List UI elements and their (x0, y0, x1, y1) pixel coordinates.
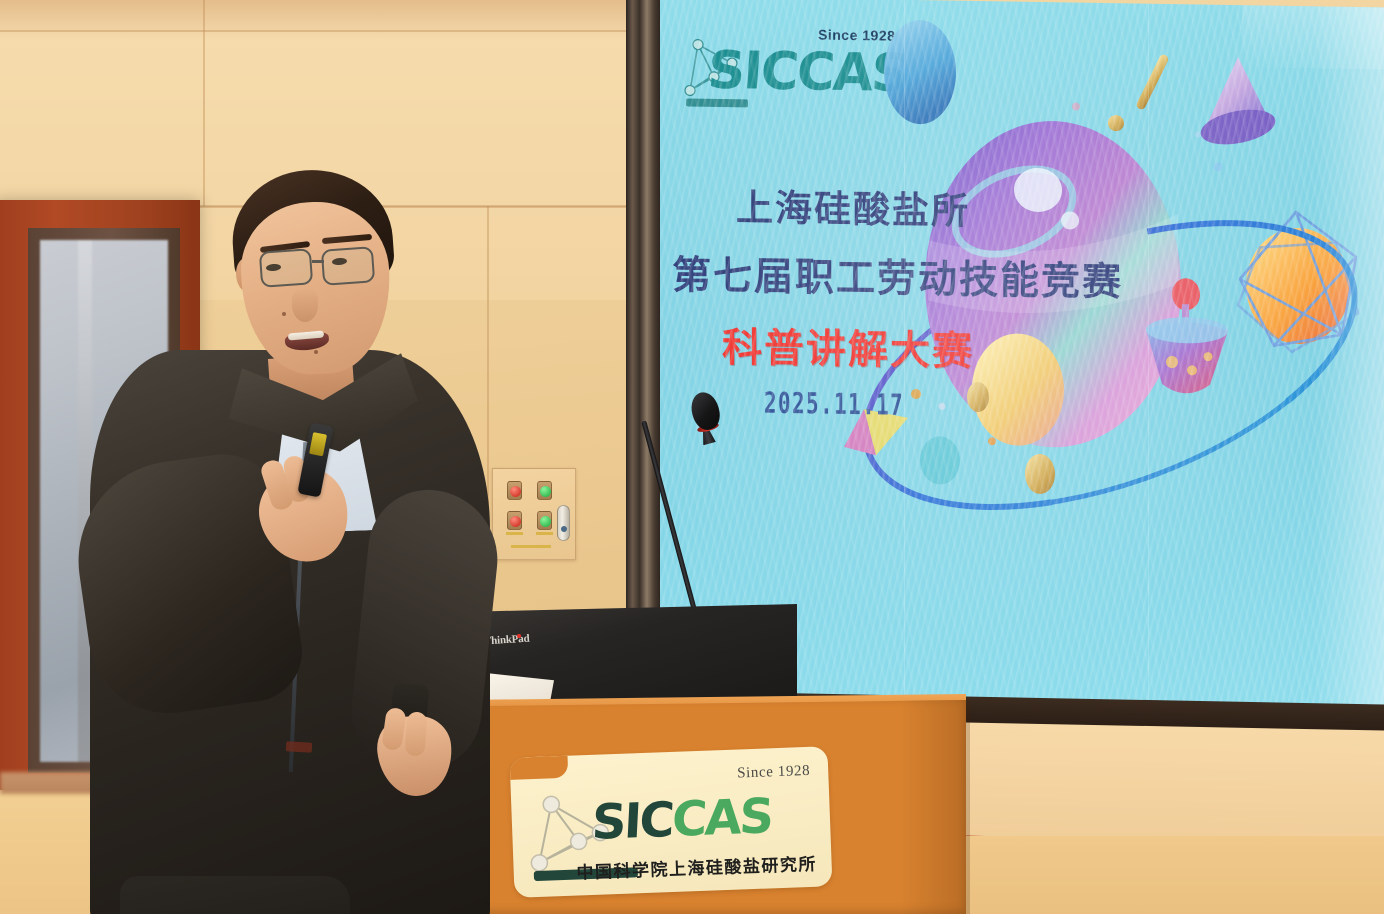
plaque-notch (510, 756, 569, 780)
plaque-since-label: Since 1928 (737, 763, 811, 783)
nose (292, 288, 318, 322)
control-label (511, 545, 551, 548)
led-presentation-screen: Since 1928 SICCAS (660, 0, 1384, 707)
podium-shadow (900, 700, 970, 914)
conference-room-photo: Since 1928 SICCAS (0, 0, 1384, 914)
lens-right (321, 246, 375, 286)
thinkpad-red-dot-icon (517, 634, 521, 638)
lens-left (259, 248, 313, 288)
plaque-wordmark: SICCAS (591, 792, 773, 847)
trousers (120, 876, 350, 914)
plaque-wordmark-green: CAS (671, 788, 773, 848)
control-label (506, 532, 523, 535)
jacket-tag (286, 741, 312, 752)
ceiling-shading (0, 0, 690, 40)
indicator-red-top[interactable] (507, 481, 522, 500)
rocker-switch[interactable] (557, 505, 570, 541)
finger (404, 711, 427, 756)
screen-vignette (660, 0, 1384, 707)
glasses (250, 248, 400, 292)
podium-logo-plaque: Since 1928 SICCAS 中国科学院上海硅酸盐研究所 (510, 746, 833, 898)
facial-mark (282, 312, 286, 316)
screen-side-bezel (626, 0, 662, 706)
speaker (60, 160, 480, 914)
plaque-wordmark-dark: SIC (591, 792, 674, 851)
indicator-red-bottom[interactable] (507, 511, 522, 530)
glasses-bridge (312, 260, 324, 263)
indicator-green-bottom[interactable] (537, 511, 552, 530)
indicator-green-top[interactable] (537, 481, 552, 500)
wall-seam (0, 30, 640, 32)
control-label (536, 532, 553, 535)
facial-mark (314, 350, 318, 354)
wall-control-panel[interactable] (492, 468, 576, 560)
